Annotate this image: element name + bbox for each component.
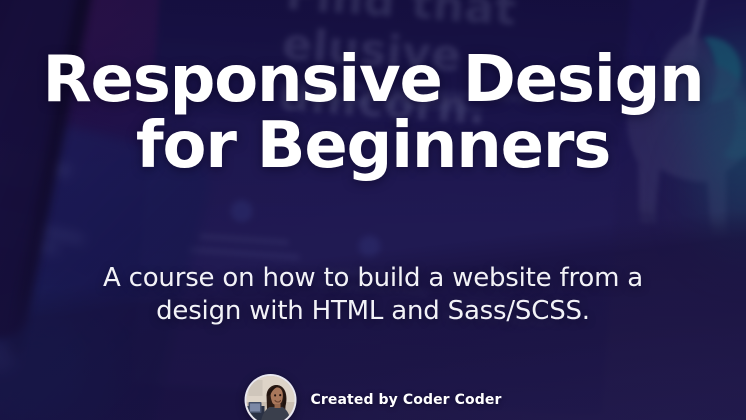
- credit-block: Created by Coder Coder: [245, 374, 502, 420]
- slide-title-line-2: for Beginners: [0, 114, 746, 180]
- slide-content: Responsive Design for Beginners A course…: [0, 0, 746, 420]
- credit-text: Created by Coder Coder: [311, 392, 502, 408]
- slide-subtitle: A course on how to build a website from …: [73, 262, 673, 329]
- avatar: [245, 374, 297, 420]
- slide-title-line-1: Responsive Design: [42, 43, 703, 117]
- course-title-slide: Find that elusive unicorn.: [0, 0, 746, 420]
- slide-title: Responsive Design for Beginners: [0, 48, 746, 180]
